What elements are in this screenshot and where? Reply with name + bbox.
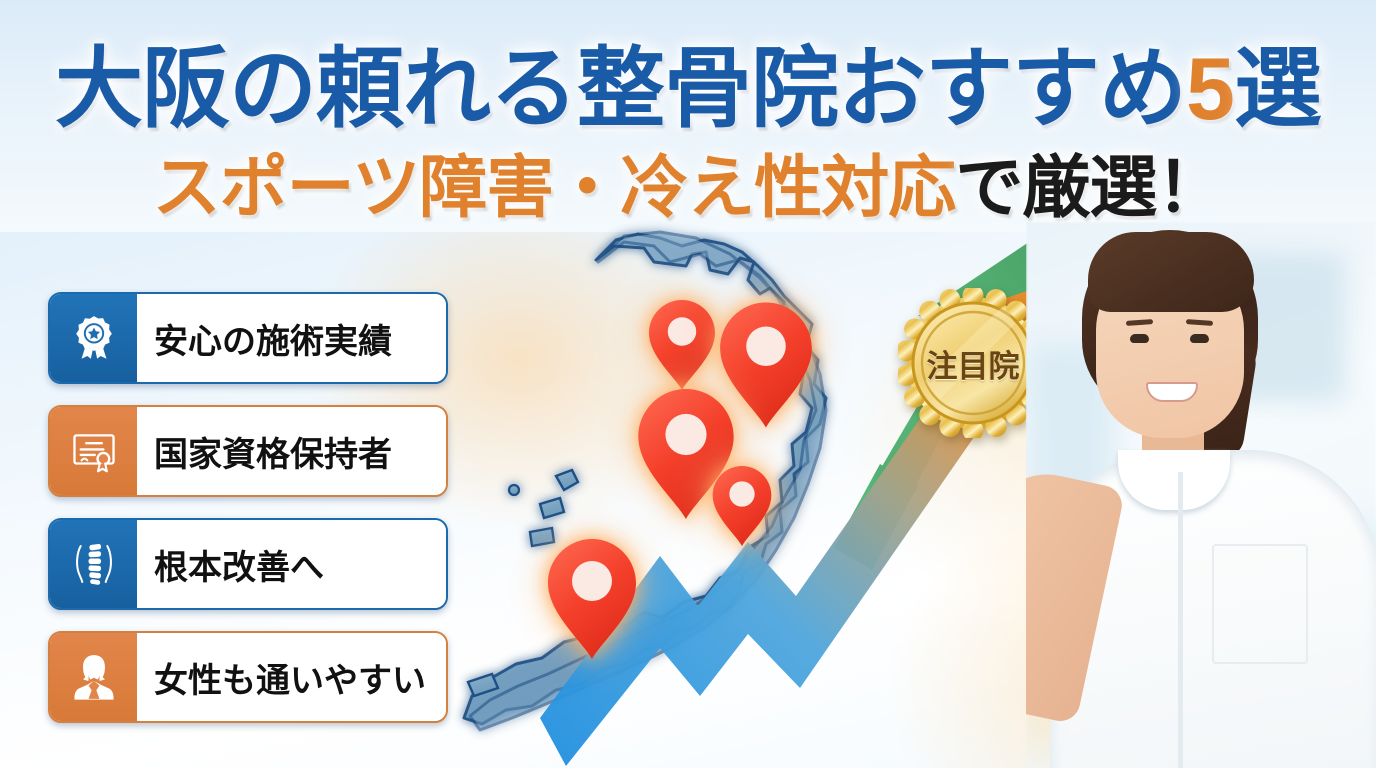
feature-badge-label: 根本改善へ <box>137 520 446 608</box>
promo-banner: 大阪の頼れる整骨院おすすめ5選 スポーツ障害・冷え性対応で厳選！ 安心の施術実績 <box>0 0 1376 768</box>
award-ribbon-icon <box>50 294 137 382</box>
subtitle-accent: スポーツ障害・冷え性対応 <box>153 150 956 226</box>
feature-badge-root-improvement[interactable]: 根本改善へ <box>48 518 448 610</box>
page-subtitle: スポーツ障害・冷え性対応で厳選！ <box>0 132 1376 231</box>
feature-badge-label: 安心の施術実績 <box>137 294 446 382</box>
title-suffix: 選 <box>1234 39 1321 138</box>
feature-badge-list: 安心の施術実績 国家資格保持者 <box>48 292 448 744</box>
feature-badge-label: 国家資格保持者 <box>137 407 446 495</box>
feature-badge-national-license[interactable]: 国家資格保持者 <box>48 405 448 497</box>
subtitle-dark: で厳選！ <box>955 150 1223 226</box>
female-person-icon <box>50 633 137 721</box>
spine-icon <box>50 520 137 608</box>
title-prefix: 大阪の頼れる整骨院おすすめ <box>55 39 1186 138</box>
hair-fringe <box>1088 232 1254 312</box>
certificate-icon <box>50 407 137 495</box>
eye-right <box>1190 334 1209 343</box>
banner-header: 大阪の頼れる整骨院おすすめ5選 スポーツ障害・冷え性対応で厳選！ <box>0 0 1376 232</box>
uniform-placket <box>1178 472 1183 768</box>
uniform-pocket <box>1212 544 1308 664</box>
smiling-mouth <box>1146 382 1198 402</box>
title-number: 5 <box>1186 39 1234 138</box>
feature-badge-track-record[interactable]: 安心の施術実績 <box>48 292 448 384</box>
eye-left <box>1130 334 1149 343</box>
feature-badge-female-friendly[interactable]: 女性も通いやすい <box>48 631 448 723</box>
page-title: 大阪の頼れる整骨院おすすめ5選 <box>0 18 1376 145</box>
practitioner-photo <box>1026 222 1376 768</box>
feature-badge-label: 女性も通いやすい <box>137 633 446 721</box>
